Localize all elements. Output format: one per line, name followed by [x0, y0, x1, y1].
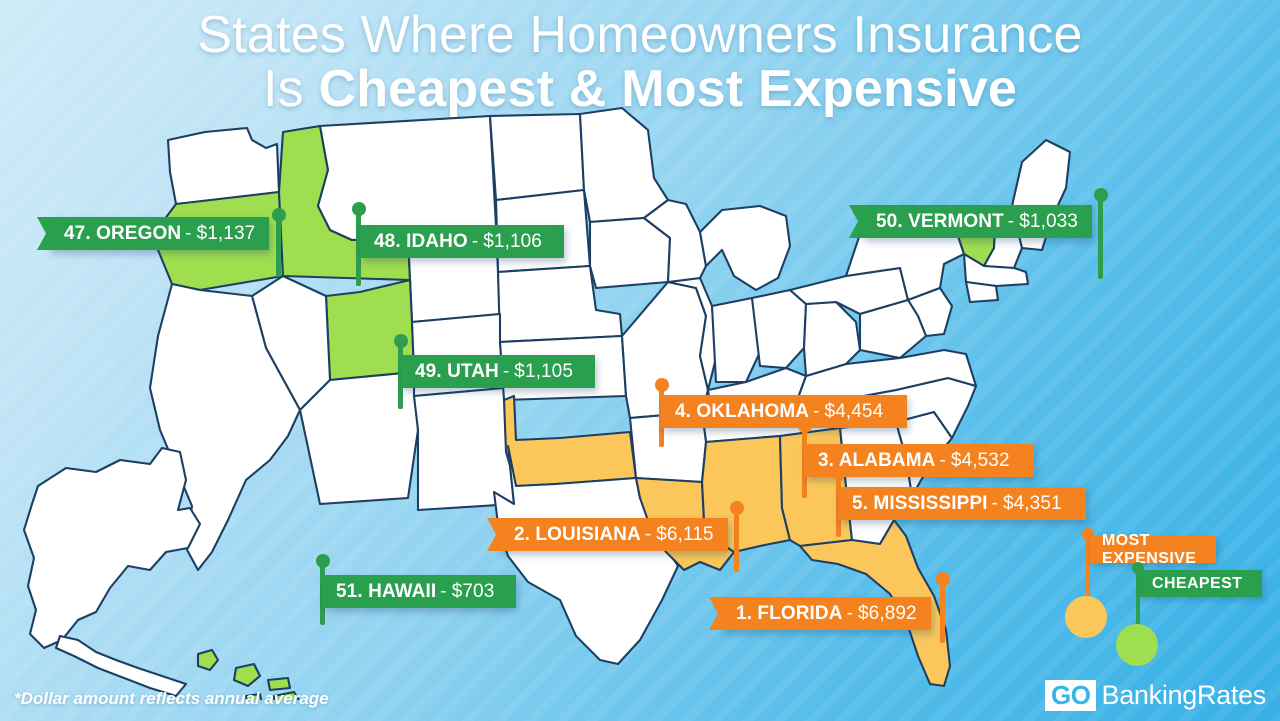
florida-dash: - [847, 603, 853, 625]
florida-banner-notch-icon [709, 597, 722, 630]
idaho-amount: $1,106 [483, 231, 542, 253]
legend-cheapest-dot [1116, 624, 1158, 666]
louisiana-rank-label: 2. LOUISIANA [514, 524, 641, 546]
mississippi-rank-label: 5. MISSISSIPPI [852, 493, 988, 515]
legend-expensive-notch-icon [1205, 536, 1216, 563]
idaho-banner[interactable]: 48. IDAHO - $1,106 [360, 225, 564, 258]
alabama-banner-notch-icon [1021, 444, 1034, 477]
legend-expensive-dot [1065, 596, 1107, 638]
louisiana-banner[interactable]: 2. LOUISIANA - $6,115 [500, 518, 728, 551]
louisiana-pin-pole [734, 510, 739, 572]
hawaii-banner-notch-icon [503, 575, 516, 608]
alabama-pin-knob [798, 419, 812, 433]
mississippi-dash: - [992, 493, 998, 515]
legend: MOST EXPENSIVE CHEAPEST [1060, 524, 1275, 659]
legend-expensive-banner: MOST EXPENSIVE [1090, 536, 1216, 563]
oregon-amount: $1,137 [197, 223, 256, 245]
state-michigan [700, 206, 790, 290]
utah-pin-knob [394, 334, 408, 348]
state-alaska-aleutians [56, 636, 186, 696]
state-new-mexico [414, 388, 514, 510]
vermont-dash: - [1008, 211, 1014, 233]
vermont-amount: $1,033 [1019, 211, 1078, 233]
vermont-banner[interactable]: 50. VERMONT - $1,033 [862, 205, 1092, 238]
oklahoma-amount: $4,454 [825, 401, 884, 423]
logo-wordmark: BankingRates [1101, 680, 1266, 711]
state-connecticut [966, 282, 998, 302]
alabama-dash: - [939, 450, 945, 472]
utah-rank-label: 49. UTAH [415, 361, 499, 383]
utah-amount: $1,105 [514, 361, 573, 383]
florida-pin-knob [936, 572, 950, 586]
legend-cheapest-banner: CHEAPEST [1140, 570, 1262, 597]
mississippi-banner[interactable]: 5. MISSISSIPPI - $4,351 [838, 487, 1086, 520]
hawaii-rank-label: 51. HAWAII [336, 581, 436, 603]
mississippi-pin-knob [832, 466, 846, 480]
utah-dash: - [503, 361, 509, 383]
vermont-pin-knob [1094, 188, 1108, 202]
oregon-banner-notch-icon [37, 217, 50, 250]
florida-amount: $6,892 [858, 603, 917, 625]
state-hawaii-oahu [234, 664, 260, 686]
gobankingrates-logo[interactable]: GO BankingRates [1045, 680, 1266, 711]
oklahoma-banner[interactable]: 4. OKLAHOMA - $4,454 [661, 395, 907, 428]
oklahoma-dash: - [813, 401, 819, 423]
state-ohio [752, 290, 806, 368]
oregon-pin-knob [272, 208, 286, 222]
hawaii-pin-knob [316, 554, 330, 568]
idaho-banner-notch-icon [551, 225, 564, 258]
idaho-rank-label: 48. IDAHO [374, 231, 468, 253]
legend-cheapest-notch-icon [1251, 570, 1262, 597]
oregon-rank-label: 47. OREGON [64, 223, 181, 245]
idaho-pin-knob [352, 202, 366, 216]
florida-pin-pole [940, 581, 945, 643]
louisiana-amount: $6,115 [656, 524, 713, 546]
oklahoma-rank-label: 4. OKLAHOMA [675, 401, 809, 423]
state-oklahoma [504, 396, 636, 486]
florida-rank-label: 1. FLORIDA [736, 603, 843, 625]
state-north-dakota [490, 114, 584, 200]
logo-mark: GO [1045, 680, 1096, 711]
oregon-pin-pole [276, 217, 281, 277]
state-montana [318, 116, 496, 240]
footnote: *Dollar amount reflects annual average [14, 689, 329, 709]
vermont-pin-pole [1098, 197, 1103, 279]
vermont-rank-label: 50. VERMONT [876, 211, 1004, 233]
legend-expensive-label: MOST EXPENSIVE [1102, 532, 1196, 568]
state-hawaii-kauai [198, 650, 218, 670]
louisiana-banner-notch-icon [487, 518, 500, 551]
louisiana-dash: - [645, 524, 651, 546]
state-washington [168, 128, 279, 204]
state-minnesota [580, 108, 668, 222]
oregon-dash: - [185, 223, 191, 245]
oklahoma-banner-notch-icon [894, 395, 907, 428]
infographic-canvas: States Where Homeowners Insurance Is Che… [0, 0, 1280, 721]
utah-banner-notch-icon [582, 355, 595, 388]
alabama-amount: $4,532 [951, 450, 1010, 472]
title-line-1: States Where Homeowners Insurance [0, 8, 1280, 62]
state-alaska [24, 448, 200, 648]
mississippi-banner-notch-icon [1073, 487, 1086, 520]
florida-banner[interactable]: 1. FLORIDA - $6,892 [722, 597, 931, 630]
louisiana-pin-knob [730, 501, 744, 515]
hawaii-dash: - [440, 581, 446, 603]
vermont-banner-notch-icon [849, 205, 862, 238]
oregon-banner[interactable]: 47. OREGON - $1,137 [50, 217, 269, 250]
utah-banner[interactable]: 49. UTAH - $1,105 [401, 355, 595, 388]
oklahoma-pin-knob [655, 378, 669, 392]
legend-cheapest-label: CHEAPEST [1152, 575, 1242, 593]
hawaii-amount: $703 [452, 581, 495, 603]
hawaii-banner[interactable]: 51. HAWAII - $703 [322, 575, 516, 608]
mississippi-amount: $4,351 [1003, 493, 1062, 515]
idaho-dash: - [472, 231, 478, 253]
